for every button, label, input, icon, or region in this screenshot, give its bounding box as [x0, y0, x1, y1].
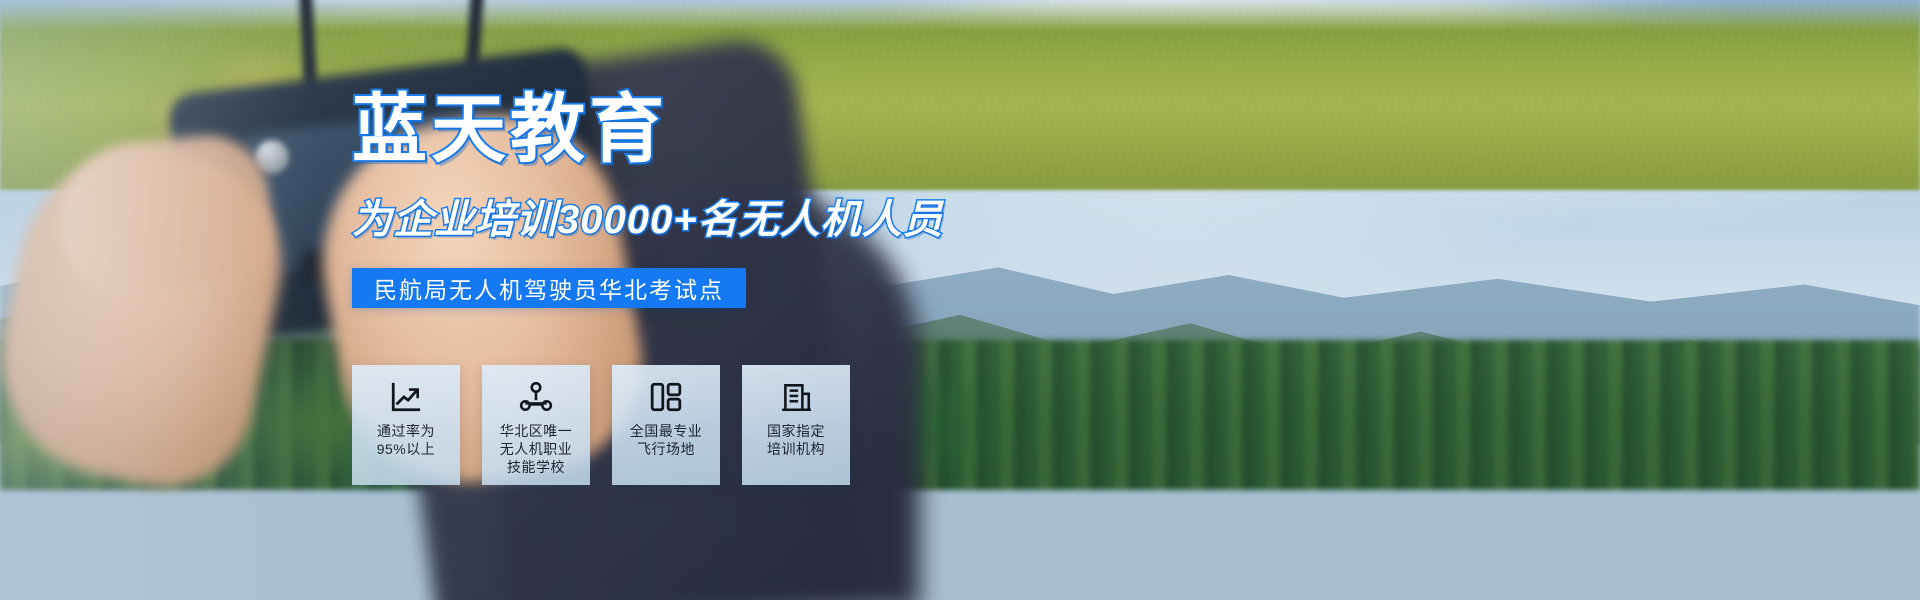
- certification-badge: 民航局无人机驾驶员华北考试点: [352, 268, 746, 308]
- layout-grid-icon: [648, 379, 684, 415]
- feature-card[interactable]: 通过率为 95%以上: [352, 365, 460, 485]
- network-nodes-icon: [518, 379, 554, 415]
- institution-building-icon: [778, 379, 814, 415]
- feature-card-text: 通过率为 95%以上: [377, 422, 436, 458]
- hero-banner: 蓝天教育 为企业培训30000+名无人机人员 民航局无人机驾驶员华北考试点 通过…: [0, 0, 1920, 600]
- feature-card-list: 通过率为 95%以上 华北区唯一 无人机职业 技能学校: [352, 365, 850, 485]
- feature-card-text: 全国最专业 飞行场地: [630, 422, 703, 458]
- banner-title: 蓝天教育: [352, 92, 668, 167]
- feature-card[interactable]: 全国最专业 飞行场地: [612, 365, 720, 485]
- feature-card[interactable]: 华北区唯一 无人机职业 技能学校: [482, 365, 590, 485]
- banner-subtitle: 为企业培训30000+名无人机人员: [352, 200, 944, 240]
- feature-card-text: 华北区唯一 无人机职业 技能学校: [500, 422, 573, 476]
- trend-up-chart-icon: [388, 379, 424, 415]
- feature-card[interactable]: 国家指定 培训机构: [742, 365, 850, 485]
- banner-content: 蓝天教育 为企业培训30000+名无人机人员 民航局无人机驾驶员华北考试点 通过…: [0, 0, 1920, 600]
- feature-card-text: 国家指定 培训机构: [767, 422, 825, 458]
